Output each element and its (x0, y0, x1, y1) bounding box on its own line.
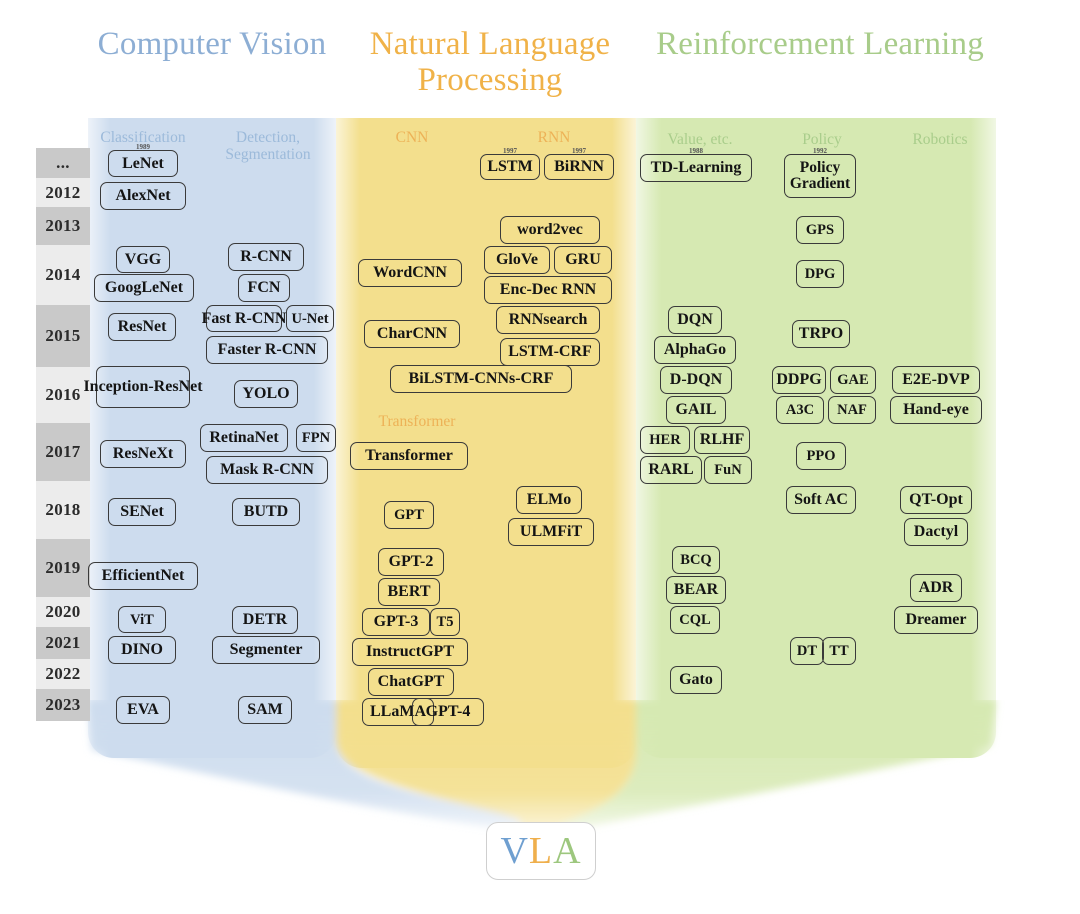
year-label-2019: 2019 (36, 539, 90, 597)
node-label: RetinaNet (209, 430, 278, 446)
node-resnext[interactable]: ResNeXt (100, 440, 186, 468)
node-label: ViT (130, 612, 154, 628)
node-label: EfficientNet (102, 568, 185, 584)
node-label: DPG (805, 266, 836, 282)
node-lstm[interactable]: 1997LSTM (480, 154, 540, 180)
node-label: ADR (919, 580, 954, 596)
node-faster-r-cnn[interactable]: Faster R-CNN (206, 336, 328, 364)
node-label: DT (797, 643, 817, 659)
node-label: AlexNet (115, 188, 170, 204)
node-gpt[interactable]: GPT (384, 501, 434, 529)
node-detr[interactable]: DETR (232, 606, 298, 634)
node-label: Enc-Dec RNN (500, 282, 596, 298)
node-senet[interactable]: SENet (108, 498, 176, 526)
node-label: HER (649, 432, 680, 448)
node-label: CQL (679, 612, 710, 628)
node-efficientnet[interactable]: EfficientNet (88, 562, 198, 590)
node-label: DETR (243, 612, 287, 628)
node-gpt-3[interactable]: GPT-3 (362, 608, 430, 636)
year-label-2022: 2022 (36, 659, 90, 689)
node-label: GloVe (496, 252, 538, 268)
node-yolo[interactable]: YOLO (234, 380, 298, 408)
node-dino[interactable]: DINO (108, 636, 176, 664)
node-label: ResNet (118, 319, 167, 335)
node-label: ResNeXt (113, 446, 173, 462)
node-label: NAF (837, 402, 867, 418)
node-label: LSTM-CRF (508, 344, 592, 360)
node-label: GPT-3 (374, 614, 419, 630)
node-resnet[interactable]: ResNet (108, 313, 176, 341)
node-label: VGG (125, 252, 161, 268)
vla-label: VLA (500, 829, 581, 873)
node-dactyl[interactable]: Dactyl (904, 518, 968, 546)
node-her[interactable]: HER (640, 426, 690, 454)
node-label: SENet (120, 504, 164, 520)
node-label: word2vec (517, 222, 583, 238)
node-fast-r-cnn[interactable]: Fast R-CNN (206, 305, 282, 332)
node-inception-resnet[interactable]: Inception-ResNet (96, 366, 190, 408)
node-a3c[interactable]: A3C (776, 396, 824, 424)
node-cql[interactable]: CQL (670, 606, 720, 634)
node-label: GAIL (676, 402, 717, 418)
node-label: BiRNN (554, 159, 604, 175)
node-year-superscript: 1988 (689, 147, 703, 155)
year-label-2014: 2014 (36, 245, 90, 305)
node-label: GPT-4 (426, 704, 471, 720)
node-gato[interactable]: Gato (670, 666, 722, 694)
node-label: ChatGPT (378, 674, 445, 690)
node-label: R-CNN (240, 249, 292, 265)
node-gru[interactable]: GRU (554, 246, 612, 274)
node-label: Hand-eye (903, 402, 969, 418)
node-bear[interactable]: BEAR (666, 576, 726, 604)
node-label: DDPG (776, 372, 821, 388)
year-label-2013: 2013 (36, 207, 90, 245)
node-transformer[interactable]: Transformer (350, 442, 468, 470)
vla-a: A (553, 830, 581, 872)
year-label-2017: 2017 (36, 423, 90, 481)
node-qt-opt[interactable]: QT-Opt (900, 486, 972, 514)
node-label: LeNet (122, 156, 164, 172)
node-hand-eye[interactable]: Hand-eye (890, 396, 982, 424)
node-label: BiLSTM-CNNs-CRF (409, 371, 554, 387)
node-label: BCQ (680, 552, 711, 568)
node-label: Policy Gradient (790, 160, 850, 192)
node-gpt-4[interactable]: GPT-4 (412, 698, 484, 726)
node-d-dqn[interactable]: D-DQN (660, 366, 732, 394)
subhead-robotics: Robotics (888, 132, 992, 149)
node-enc-dec-rnn[interactable]: Enc-Dec RNN (484, 276, 612, 304)
node-soft-ac[interactable]: Soft AC (786, 486, 856, 514)
node-label: DINO (121, 642, 163, 658)
node-label: TRPO (799, 326, 843, 342)
node-label: GoogLeNet (105, 280, 183, 296)
node-e2e-dvp[interactable]: E2E-DVP (892, 366, 980, 394)
node-label: Transformer (365, 448, 453, 464)
year-label-2023: 2023 (36, 689, 90, 721)
node-label: TT (829, 643, 848, 659)
section-titles: Computer Vision Natural Language Process… (0, 22, 1080, 118)
node-charcnn[interactable]: CharCNN (364, 320, 460, 348)
node-label: Faster R-CNN (218, 342, 317, 358)
node-alexnet[interactable]: AlexNet (100, 182, 186, 210)
node-sam[interactable]: SAM (238, 696, 292, 724)
node-instructgpt[interactable]: InstructGPT (352, 638, 468, 666)
node-butd[interactable]: BUTD (232, 498, 300, 526)
node-gae[interactable]: GAE (830, 366, 876, 394)
node-gail[interactable]: GAIL (666, 396, 726, 424)
year-label-2020: 2020 (36, 597, 90, 627)
node-label: Soft AC (794, 492, 848, 508)
node-label: RARL (648, 462, 693, 478)
node-ppo[interactable]: PPO (796, 442, 846, 470)
node-gps[interactable]: GPS (796, 216, 844, 244)
node-fpn[interactable]: FPN (296, 424, 336, 452)
node-label: Dactyl (914, 524, 958, 540)
node-ulmfit[interactable]: ULMFiT (508, 518, 594, 546)
node-retinanet[interactable]: RetinaNet (200, 424, 288, 452)
subhead-cnn: CNN (360, 130, 464, 147)
node-t5[interactable]: T5 (430, 608, 460, 636)
node-label: GRU (565, 252, 601, 268)
node-label: D-DQN (670, 372, 722, 388)
node-mask-r-cnn[interactable]: Mask R-CNN (206, 456, 328, 484)
node-label: SAM (247, 702, 283, 718)
year-label-2012: 2012 (36, 178, 90, 207)
node-label: Dreamer (906, 612, 967, 628)
node-label: ELMo (527, 492, 571, 508)
node-year-superscript: 1997 (572, 147, 586, 155)
node-label: Gato (679, 672, 713, 688)
node-year-superscript: 1997 (503, 147, 517, 155)
node-label: PPO (807, 448, 836, 464)
vla-box[interactable]: VLA (486, 822, 596, 880)
node-elmo[interactable]: ELMo (516, 486, 582, 514)
node-rarl[interactable]: RARL (640, 456, 702, 484)
title-computer-vision: Computer Vision (92, 26, 332, 62)
subhead-rnn: RNN (494, 130, 614, 147)
node-bilstm-cnns-crf[interactable]: BiLSTM-CNNs-CRF (390, 365, 572, 393)
node-label: CharCNN (377, 326, 447, 342)
node-label: FPN (302, 430, 330, 446)
node-wordcnn[interactable]: WordCNN (358, 259, 462, 287)
node-label: BERT (387, 584, 430, 600)
node-word2vec[interactable]: word2vec (500, 216, 600, 244)
node-trpo[interactable]: TRPO (792, 320, 850, 348)
vla-v: V (500, 830, 528, 872)
node-dreamer[interactable]: Dreamer (894, 606, 978, 634)
node-naf[interactable]: NAF (828, 396, 876, 424)
node-tt[interactable]: TT (822, 637, 856, 665)
year-label-2016: 2016 (36, 367, 90, 423)
node-u-net[interactable]: U-Net (286, 305, 334, 332)
year-label-2021: 2021 (36, 627, 90, 659)
node-lstm-crf[interactable]: LSTM-CRF (500, 338, 600, 366)
node-label: GPT-2 (389, 554, 434, 570)
node-dqn[interactable]: DQN (668, 306, 722, 334)
node-lenet[interactable]: 1989LeNet (108, 150, 178, 177)
node-label: AlphaGo (664, 342, 726, 358)
node-label: DQN (677, 312, 713, 328)
node-googlenet[interactable]: GoogLeNet (94, 274, 194, 302)
vla-l: L (529, 830, 553, 872)
node-vit[interactable]: ViT (118, 606, 166, 633)
node-year-superscript: 1992 (813, 147, 827, 155)
node-label: QT-Opt (909, 492, 963, 508)
year-axis: ...2012201320142015201620172018201920202… (36, 148, 90, 721)
node-label: ULMFiT (520, 524, 582, 540)
node-vgg[interactable]: VGG (116, 246, 170, 273)
node-bcq[interactable]: BCQ (672, 546, 720, 574)
node-label: TD-Learning (651, 160, 742, 176)
node-label: Fast R-CNN (202, 311, 287, 327)
node-dt[interactable]: DT (790, 637, 824, 665)
node-label: E2E-DVP (902, 372, 970, 388)
node-label: U-Net (291, 311, 328, 327)
node-label: InstructGPT (366, 644, 454, 660)
year-label-2015: 2015 (36, 305, 90, 367)
node-r-cnn[interactable]: R-CNN (228, 243, 304, 271)
node-label: GAE (837, 372, 868, 388)
node-label: Inception-ResNet (83, 379, 202, 395)
node-label: FuN (714, 462, 741, 478)
node-rlhf[interactable]: RLHF (694, 426, 750, 454)
node-birnn[interactable]: 1997BiRNN (544, 154, 614, 180)
node-policy-gradient[interactable]: 1992Policy Gradient (784, 154, 856, 198)
node-label: Mask R-CNN (220, 462, 314, 478)
node-fcn[interactable]: FCN (238, 274, 290, 302)
node-label: RNNsearch (509, 312, 588, 328)
node-fun[interactable]: FuN (704, 456, 752, 484)
node-eva[interactable]: EVA (116, 696, 170, 724)
subhead-transformer: Transformer (350, 414, 484, 431)
node-chatgpt[interactable]: ChatGPT (368, 668, 454, 696)
node-label: FCN (248, 280, 281, 296)
title-reinforcement-learning: Reinforcement Learning (655, 26, 985, 62)
node-label: GPS (806, 222, 834, 238)
node-year-superscript: 1989 (136, 143, 150, 151)
title-nlp: Natural Language Processing (325, 26, 655, 98)
node-gpt-2[interactable]: GPT-2 (378, 548, 444, 576)
subhead-detection-segmentation: Detection, Segmentation (206, 130, 330, 163)
node-segmenter[interactable]: Segmenter (212, 636, 320, 664)
node-td-learning[interactable]: 1988TD-Learning (640, 154, 752, 182)
node-label: A3C (786, 402, 814, 418)
year-label-dotsdotsdots: ... (36, 148, 90, 178)
node-label: T5 (437, 614, 454, 630)
node-label: YOLO (242, 386, 289, 402)
node-adr[interactable]: ADR (910, 574, 962, 602)
node-dpg[interactable]: DPG (796, 260, 844, 288)
node-label: GPT (394, 507, 424, 523)
node-label: Segmenter (230, 642, 303, 658)
node-rnnsearch[interactable]: RNNsearch (496, 306, 600, 334)
node-label: LSTM (487, 159, 532, 175)
node-label: BEAR (674, 582, 718, 598)
node-ddpg[interactable]: DDPG (772, 366, 826, 394)
node-label: WordCNN (373, 265, 447, 281)
node-label: EVA (127, 702, 159, 718)
node-label: RLHF (700, 432, 744, 448)
node-alphago[interactable]: AlphaGo (654, 336, 736, 364)
year-label-2018: 2018 (36, 481, 90, 539)
node-bert[interactable]: BERT (378, 578, 440, 606)
node-glove[interactable]: GloVe (484, 246, 550, 274)
node-label: BUTD (244, 504, 288, 520)
